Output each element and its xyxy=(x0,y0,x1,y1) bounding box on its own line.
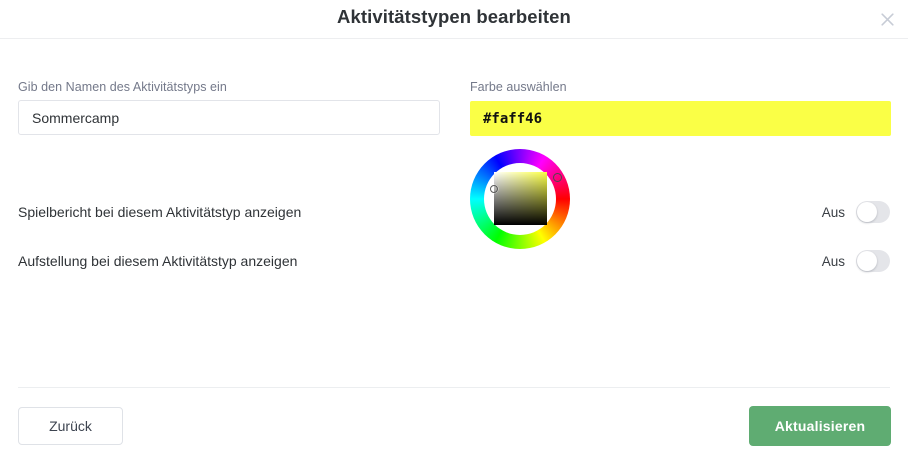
close-icon[interactable] xyxy=(870,3,904,35)
footer-divider xyxy=(18,387,890,388)
toggle-knob xyxy=(857,202,877,222)
back-button[interactable]: Zurück xyxy=(18,407,123,445)
page-title: Aktivitätstypen bearbeiten xyxy=(0,6,908,28)
update-button[interactable]: Aktualisieren xyxy=(749,406,891,446)
toggle-row-aufstellung: Aufstellung bei diesem Aktivitätstyp anz… xyxy=(18,249,890,273)
modal-footer: Zurück Aktualisieren xyxy=(0,387,908,468)
hue-marker[interactable] xyxy=(553,173,562,182)
toggle-knob xyxy=(857,251,877,271)
toggle-label-spielbericht: Spielbericht bei diesem Aktivitätstyp an… xyxy=(18,204,301,220)
activity-name-input[interactable] xyxy=(18,100,440,135)
toggle-label-aufstellung: Aufstellung bei diesem Aktivitätstyp anz… xyxy=(18,253,297,269)
name-field-label: Gib den Namen des Aktivitätstyps ein xyxy=(18,80,227,94)
toggle-switch-spielbericht[interactable] xyxy=(856,201,890,223)
toggle-state-spielbericht: Aus xyxy=(822,205,845,220)
toggle-state-aufstellung: Aus xyxy=(822,254,845,269)
toggle-row-spielbericht: Spielbericht bei diesem Aktivitätstyp an… xyxy=(18,200,890,224)
modal-body: Gib den Namen des Aktivitätstyps ein Far… xyxy=(0,39,908,387)
color-wheel-picker[interactable] xyxy=(470,149,570,249)
toggle-switch-aufstellung[interactable] xyxy=(856,250,890,272)
color-field-label: Farbe auswählen xyxy=(470,80,567,94)
toggle-control-aufstellung: Aus xyxy=(822,250,890,272)
color-hex-input[interactable] xyxy=(470,101,891,136)
toggle-control-spielbericht: Aus xyxy=(822,201,890,223)
saturation-value-marker[interactable] xyxy=(490,185,498,193)
modal-header: Aktivitätstypen bearbeiten xyxy=(0,0,908,39)
edit-activity-types-modal: Aktivitätstypen bearbeiten Gib den Namen… xyxy=(0,0,908,468)
